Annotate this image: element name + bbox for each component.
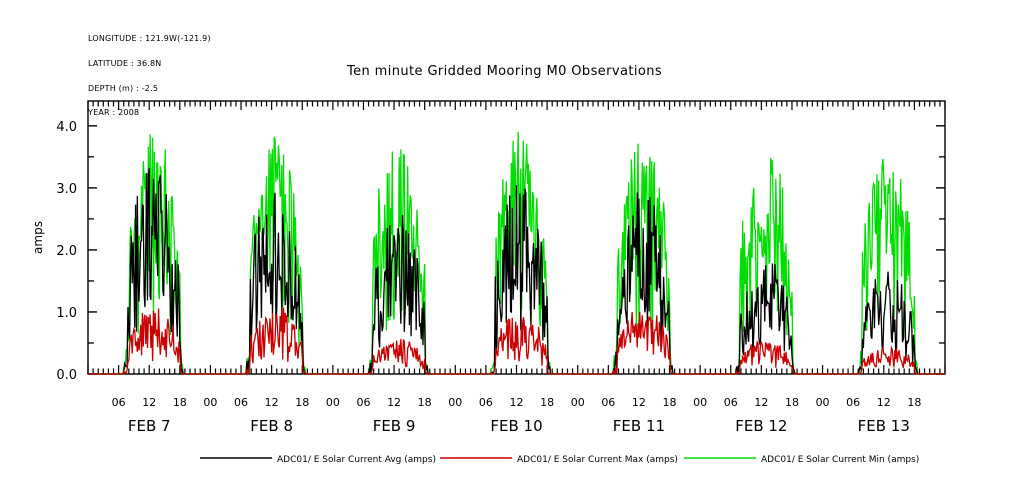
x-tick-label: 00 (571, 396, 585, 409)
x-tick-label: 12 (632, 396, 646, 409)
y-tick-label: 2.0 (56, 244, 77, 259)
x-tick-label: 00 (448, 396, 462, 409)
x-tick-label: 00 (326, 396, 340, 409)
y-tick-label: 4.0 (56, 120, 77, 135)
x-tick-label: 00 (693, 396, 707, 409)
x-tick-label: 06 (479, 396, 493, 409)
y-tick-label: 3.0 (56, 182, 77, 197)
x-tick-label: 06 (601, 396, 615, 409)
x-tick-label: 18 (540, 396, 554, 409)
x-tick-label: 12 (265, 396, 279, 409)
chart-area: 0.01.02.03.04.0amps061218000612180006121… (0, 0, 1009, 504)
x-day-label: FEB 12 (735, 417, 787, 435)
x-tick-label: 06 (846, 396, 860, 409)
y-axis-label: amps (31, 221, 45, 254)
y-tick-label: 0.0 (56, 368, 77, 383)
x-tick-label: 06 (112, 396, 126, 409)
x-tick-label: 18 (663, 396, 677, 409)
legend-label-0: ADC01/ E Solar Current Avg (amps) (277, 455, 436, 465)
x-day-label: FEB 7 (128, 417, 171, 435)
x-tick-label: 18 (295, 396, 309, 409)
x-tick-label: 18 (907, 396, 921, 409)
x-day-label: FEB 8 (250, 417, 293, 435)
x-tick-label: 00 (203, 396, 217, 409)
x-tick-label: 06 (356, 396, 370, 409)
series-line-max (88, 307, 945, 374)
x-tick-label: 12 (387, 396, 401, 409)
legend-label-1: ADC01/ E Solar Current Max (amps) (517, 455, 678, 465)
x-tick-label: 06 (724, 396, 738, 409)
x-day-label: FEB 13 (858, 417, 910, 435)
legend-label-2: ADC01/ E Solar Current Min (amps) (761, 455, 919, 465)
x-day-label: FEB 10 (490, 417, 542, 435)
x-tick-label: 06 (234, 396, 248, 409)
x-tick-label: 12 (754, 396, 768, 409)
plot-svg: 0.01.02.03.04.0amps061218000612180006121… (0, 0, 1009, 504)
x-day-label: FEB 9 (373, 417, 416, 435)
x-day-label: FEB 11 (613, 417, 665, 435)
x-tick-label: 00 (816, 396, 830, 409)
x-tick-label: 18 (173, 396, 187, 409)
x-tick-label: 12 (877, 396, 891, 409)
x-tick-label: 18 (418, 396, 432, 409)
y-tick-label: 1.0 (56, 306, 77, 321)
x-tick-label: 12 (510, 396, 524, 409)
x-tick-label: 12 (142, 396, 156, 409)
x-tick-label: 18 (785, 396, 799, 409)
